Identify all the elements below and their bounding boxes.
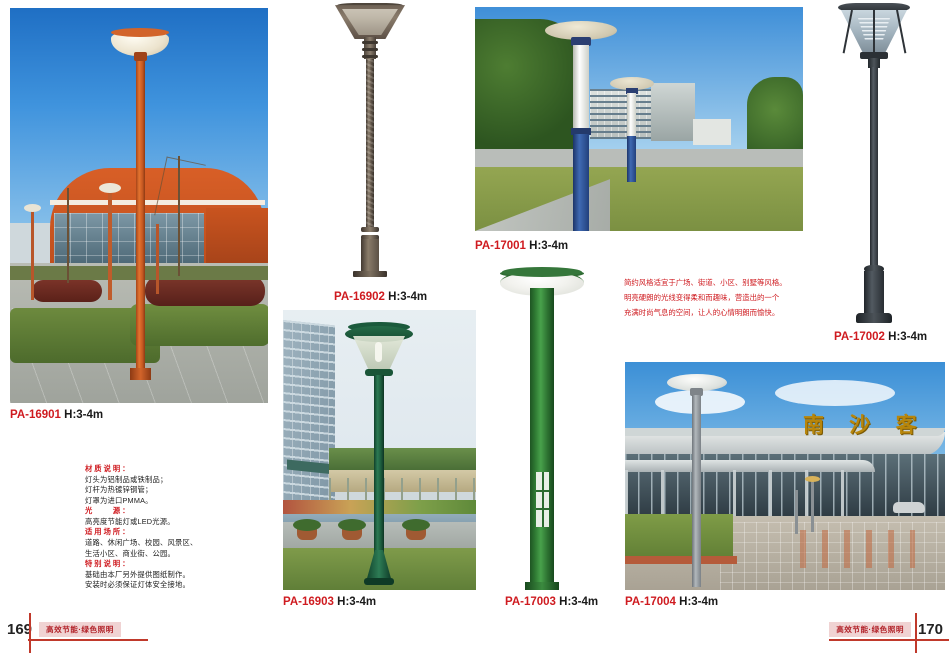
lamp-ring-1 xyxy=(362,41,378,44)
background-lamp-1-shade xyxy=(24,204,41,212)
footer-right: 高效节能·绿色照明 170 xyxy=(829,621,950,638)
lamp-ring-3 xyxy=(362,55,378,58)
spec-heading-light-source: 光 源： xyxy=(85,506,275,517)
footer-slogan-left: 高效节能·绿色照明 xyxy=(39,622,121,637)
lamp-base xyxy=(864,271,884,319)
spec-line: 基础由本厂另外提供图纸制作。 xyxy=(85,570,275,581)
product-photo-pa-17004: 南 沙 客 xyxy=(625,362,945,590)
product-photo-pa-16902 xyxy=(335,3,421,279)
lamp-pole xyxy=(374,375,384,560)
spec-line: 灯头为铝制品或铁制品； xyxy=(85,475,275,486)
shrub-red-left xyxy=(32,280,102,302)
lamp1-lower-pole xyxy=(573,134,589,231)
bollard-lamp-2 xyxy=(795,490,798,534)
tree-right xyxy=(747,77,803,159)
lamp-foot-plate xyxy=(856,313,892,323)
lamp-collar-upper xyxy=(361,227,379,232)
road xyxy=(475,149,803,167)
bollard-lamp-1 xyxy=(811,480,814,532)
kerb xyxy=(625,556,737,564)
lamp-foot-plate xyxy=(353,271,387,277)
spec-heading-applications: 适用场所： xyxy=(85,527,275,538)
shrub-red-right xyxy=(145,276,265,306)
product-label-pa-17002: PA-17002 H:3-4m xyxy=(834,331,927,343)
building-right-wing xyxy=(206,208,268,263)
spec-line: 道路、休闲广场、校园、风景区、 xyxy=(85,538,275,549)
product-height: H:3-4m xyxy=(337,596,376,608)
lamp-assembly xyxy=(345,322,415,586)
catalog-page: PA-16901 H:3-4m PA-16902 H:3-4m xyxy=(0,0,950,654)
hero-lamp-shade-rim xyxy=(111,28,169,37)
lamp-base xyxy=(361,239,379,273)
product-code: PA-17003 xyxy=(505,596,556,608)
lamp-pole xyxy=(870,67,878,267)
blurb-line-2: 明亮硬朗的光线变得柔和而趣味，营造出的一个 xyxy=(624,291,804,306)
bollard-lamp-1-head xyxy=(805,476,820,482)
footer-divider-right xyxy=(915,613,917,653)
footer-rule-right xyxy=(829,639,949,641)
planter-1-foliage xyxy=(293,519,321,531)
product-code: PA-17004 xyxy=(625,596,676,608)
background-lamp-1 xyxy=(31,210,34,300)
lamp-shade-top xyxy=(502,267,582,277)
lamp-pole xyxy=(530,288,554,588)
product-height: H:3-4m xyxy=(888,331,927,343)
spec-line: 生活小区、商业街、公园。 xyxy=(85,549,275,560)
product-label-pa-17003: PA-17003 H:3-4m xyxy=(505,596,598,608)
bare-tree-left xyxy=(67,188,69,283)
lamp-window-mullion-h1 xyxy=(536,490,549,492)
spec-line: 高亮度节能灯或LED光源。 xyxy=(85,517,275,528)
tree-row-left xyxy=(475,19,580,154)
product-label-pa-17004: PA-17004 H:3-4m xyxy=(625,596,718,608)
spec-line: 安装时必须保证灯体安全接地。 xyxy=(85,580,275,591)
hero-lamp-collar xyxy=(134,52,147,61)
car-silhouette xyxy=(893,502,925,513)
lamp-ring-2 xyxy=(362,48,378,51)
spec-heading-notes: 特别说明： xyxy=(85,559,275,570)
product-height: H:3-4m xyxy=(529,240,568,252)
product-code: PA-16903 xyxy=(283,596,334,608)
product-photo-pa-16903 xyxy=(283,310,476,590)
specification-block: 材质说明： 灯头为铝制品或铁制品； 灯杆为热镀锌钢管； 灯罩为进口PMMA。 光… xyxy=(85,464,275,591)
page-number-left: 169 xyxy=(0,621,39,638)
highrise-windows xyxy=(283,320,335,505)
office-building-right xyxy=(693,119,731,145)
product-label-pa-16903: PA-16903 H:3-4m xyxy=(283,596,376,608)
lamp2-lower-pole xyxy=(627,136,636,182)
product-height: H:3-4m xyxy=(679,596,718,608)
terminal-columns xyxy=(625,470,875,518)
hedge-green-right xyxy=(130,304,268,346)
product-photo-pa-17002 xyxy=(836,3,916,323)
footer-rule-left xyxy=(28,639,148,641)
plaza-colored-tiles xyxy=(800,530,915,568)
building-sign: 南 沙 客 xyxy=(803,409,926,439)
product-label-pa-16902: PA-16902 H:3-4m xyxy=(334,291,427,303)
product-height: H:3-4m xyxy=(64,409,103,421)
lamp-pole xyxy=(692,395,701,587)
marketing-blurb: 简约风格适宜于广场、街道、小区、别墅等风格。 明亮硬朗的光线变得柔和而趣味，营造… xyxy=(624,276,804,320)
footer-left: 169 高效节能·绿色照明 xyxy=(0,621,121,638)
lamp-foot-plate xyxy=(364,578,394,585)
hero-lamp-pole xyxy=(136,60,145,378)
product-photo-pa-16901 xyxy=(10,8,268,403)
product-code: PA-16902 xyxy=(334,291,385,303)
lamp-foot-plate xyxy=(525,582,559,590)
lamp-bulb xyxy=(375,342,382,362)
spec-heading-material: 材质说明： xyxy=(85,464,275,475)
hero-lamp-base xyxy=(130,368,151,380)
product-label-pa-16901: PA-16901 H:3-4m xyxy=(10,409,103,421)
background-lamp-2-shade xyxy=(99,183,121,193)
lawn xyxy=(625,514,733,562)
product-photo-pa-17003 xyxy=(500,262,584,592)
product-code: PA-17002 xyxy=(834,331,885,343)
lamp1-upper-pole xyxy=(573,45,589,130)
spec-line: 灯杆为热镀锌钢管； xyxy=(85,485,275,496)
background-lamp-2 xyxy=(108,190,112,300)
lamp-pole-twist-texture xyxy=(366,59,374,229)
spec-line: 灯罩为进口PMMA。 xyxy=(85,496,275,507)
product-height: H:3-4m xyxy=(388,291,427,303)
cloud-2 xyxy=(775,380,895,406)
lamp-window-mullion-vertical xyxy=(542,472,544,527)
blurb-line-1: 简约风格适宜于广场、街道、小区、别墅等风格。 xyxy=(624,276,804,291)
product-code: PA-17001 xyxy=(475,240,526,252)
blurb-line-3: 充满时尚气息的空间，让人的心情明朗而愉快。 xyxy=(624,306,804,321)
product-height: H:3-4m xyxy=(559,596,598,608)
lamp-window-mullion-h2 xyxy=(536,508,549,510)
office-building-tower xyxy=(651,83,695,141)
lamp-frame-center xyxy=(873,10,875,54)
product-code: PA-16901 xyxy=(10,409,61,421)
footer-slogan-right: 高效节能·绿色照明 xyxy=(829,622,911,637)
product-label-pa-17001: PA-17001 H:3-4m xyxy=(475,240,568,252)
footer-divider-left xyxy=(29,613,31,653)
product-photo-pa-17001 xyxy=(475,7,803,231)
lamp2-upper-pole xyxy=(627,93,636,137)
background-lamp-3 xyxy=(156,224,159,294)
